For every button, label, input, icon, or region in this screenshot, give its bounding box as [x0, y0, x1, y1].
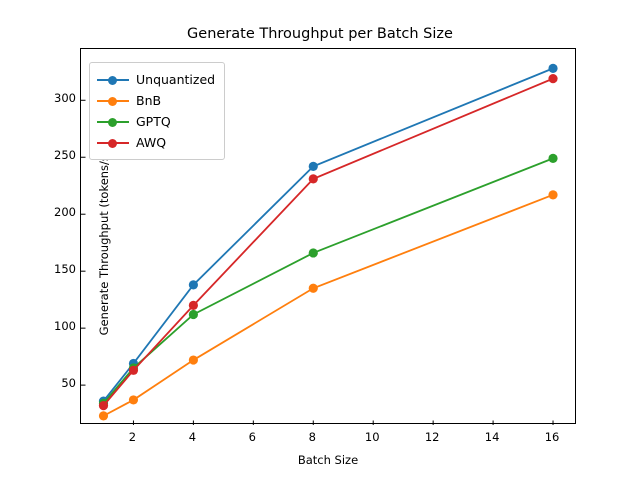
- legend-swatch-icon: [97, 73, 129, 87]
- chart-figure: Generate Throughput per Batch Size 50100…: [0, 0, 640, 480]
- legend-item-label: AWQ: [136, 135, 166, 150]
- x-tick-label: 14: [472, 430, 512, 444]
- legend-swatch-icon: [97, 115, 129, 129]
- legend-swatch-icon: [97, 94, 129, 108]
- x-tick-label: 6: [232, 430, 272, 444]
- legend-item-label: Unquantized: [136, 72, 215, 87]
- legend-item-label: GPTQ: [136, 114, 171, 129]
- legend-item-gptq[interactable]: GPTQ: [97, 111, 215, 132]
- x-tick-label: 4: [172, 430, 212, 444]
- x-tick-label: 10: [352, 430, 392, 444]
- x-tick-label: 2: [112, 430, 152, 444]
- x-tick-label: 16: [532, 430, 572, 444]
- legend-item-unquantized[interactable]: Unquantized: [97, 69, 215, 90]
- legend: UnquantizedBnBGPTQAWQ: [89, 62, 225, 160]
- legend-item-label: BnB: [136, 93, 161, 108]
- legend-item-bnb[interactable]: BnB: [97, 90, 215, 111]
- legend-item-awq[interactable]: AWQ: [97, 132, 215, 153]
- legend-swatch-icon: [97, 136, 129, 150]
- x-axis-label: Batch Size: [80, 453, 576, 467]
- x-tick-label: 8: [292, 430, 332, 444]
- x-tick-label: 12: [412, 430, 452, 444]
